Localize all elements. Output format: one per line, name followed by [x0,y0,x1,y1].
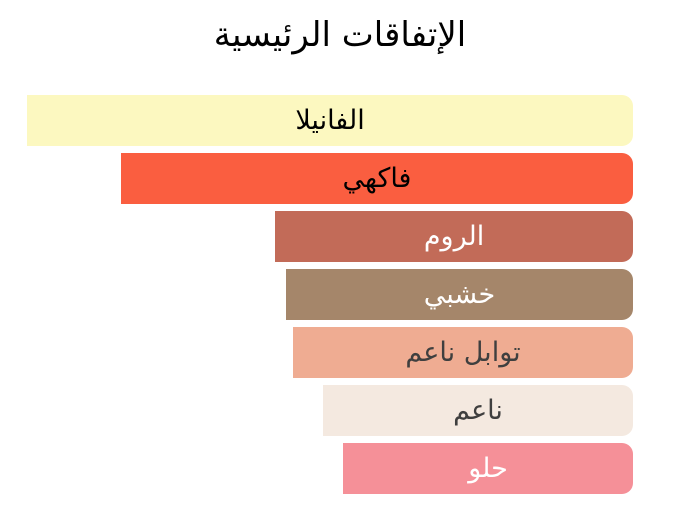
bar-3[interactable]: الروم [275,211,633,262]
bar-label: الفانيلا [295,107,364,134]
bar-1[interactable]: الفانيلا [27,95,633,146]
bar-label: ناعم [453,397,503,424]
bar-6[interactable]: ناعم [323,385,633,436]
bar-label: حلو [468,455,508,482]
bar-series-group: الفانيلافاكهيالرومخشبيتوابل ناعمناعمحلو [0,0,680,526]
bar-4[interactable]: خشبي [286,269,633,320]
chart-container: الإتفاقات الرئيسية الفانيلافاكهيالرومخشب… [0,0,680,526]
bar-label: فاكهي [343,165,412,192]
bar-label: الروم [424,223,484,250]
bar-5[interactable]: توابل ناعم [293,327,633,378]
bar-label: توابل ناعم [405,339,520,366]
bar-7[interactable]: حلو [343,443,633,494]
bar-label: خشبي [424,281,495,308]
bar-2[interactable]: فاكهي [121,153,633,204]
